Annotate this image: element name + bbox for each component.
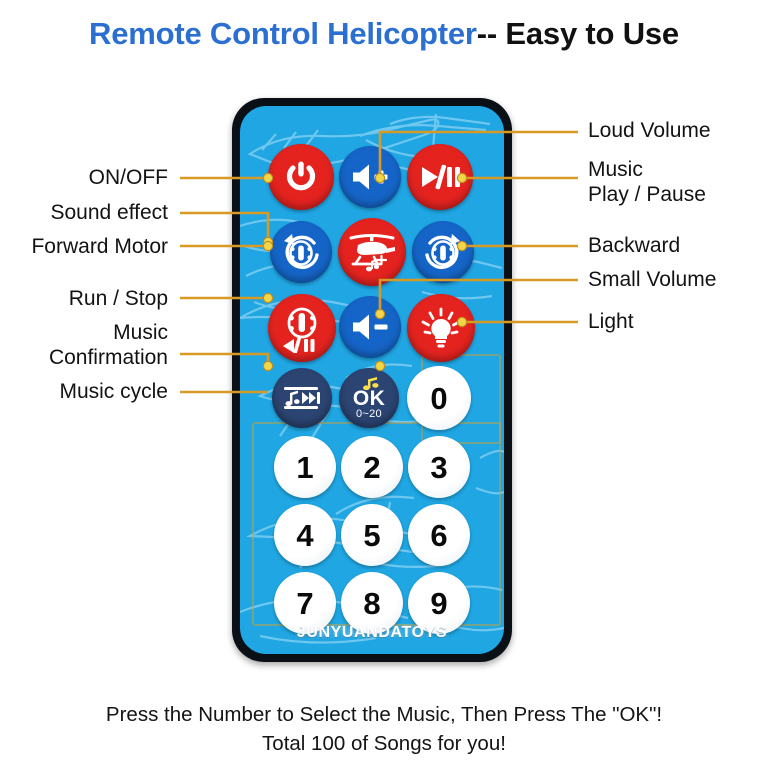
key-5-button[interactable]: 5 [341,504,403,566]
callout-run-stop: Run / Stop [69,286,168,311]
key-9-label: 9 [430,588,447,619]
power-icon [283,159,319,195]
callout-light-line1: Light [588,310,634,333]
key-1-label: 1 [296,452,313,483]
key-3-label: 3 [430,452,447,483]
callout-music-confirmation-line2: Confirmation [49,345,168,370]
remote-control-device: OK 0~20 0 1 2 3 4 5 6 7 8 [232,98,512,662]
key-1-button[interactable]: 1 [274,436,336,498]
key-4-button[interactable]: 4 [274,504,336,566]
callout-music-play-pause: Music Play / Pause [588,157,706,207]
callout-forward-motor-line1: Forward Motor [31,235,168,258]
callout-forward-motor: Forward Motor [31,234,168,259]
callout-on-off-line1: ON/OFF [89,166,168,189]
forward-motor-button[interactable] [270,221,332,283]
music-cycle-button[interactable] [272,368,332,428]
ok-button-label: OK [353,389,385,408]
callout-loud-volume: Loud Volume [588,118,711,143]
key-3-button[interactable]: 3 [408,436,470,498]
key-0-label: 0 [430,383,447,414]
footer-caption: Press the Number to Select the Music, Th… [0,700,768,758]
bulb-icon [419,306,463,350]
callout-on-off: ON/OFF [89,165,168,190]
callout-music-play-pause-line2: Play / Pause [588,182,706,207]
brand-label: JUNYUANDATOYS [240,624,504,642]
speaker-plus-icon [350,161,390,193]
callout-loud-volume-line1: Loud Volume [588,119,711,142]
run-stop-button[interactable] [268,294,336,362]
key-4-label: 4 [296,520,313,551]
ok-button-range-label: 0~20 [356,408,382,420]
key-0-button[interactable]: 0 [407,366,471,430]
ok-button[interactable]: OK 0~20 [339,368,399,428]
callout-small-volume-line1: Small Volume [588,268,716,291]
key-7-label: 7 [296,588,313,619]
volume-up-button[interactable] [339,146,401,208]
footer-caption-line2: Total 100 of Songs for you! [0,729,768,758]
key-2-button[interactable]: 2 [341,436,403,498]
callout-sound-effect-line1: Sound effect [50,201,168,224]
page-title-suffix: -- Easy to Use [477,16,679,51]
callout-music-play-pause-line1: Music [588,157,706,182]
callout-music-cycle: Music cycle [59,379,168,404]
callout-run-stop-line1: Run / Stop [69,287,168,310]
page-root: Remote Control Helicopter-- Easy to Use [0,0,768,768]
volume-down-button[interactable] [339,296,401,358]
key-6-button[interactable]: 6 [408,504,470,566]
callout-small-volume: Small Volume [588,267,716,292]
callout-backward: Backward [588,233,680,258]
callout-music-confirmation-line1: Music [49,320,168,345]
music-cycle-icon [280,381,324,415]
sound-effect-button[interactable] [338,218,406,286]
backward-button[interactable] [412,221,474,283]
key-2-label: 2 [363,452,380,483]
music-play-pause-button[interactable] [407,144,473,210]
remote-faceplate: OK 0~20 0 1 2 3 4 5 6 7 8 [240,106,504,654]
key-6-label: 6 [430,520,447,551]
footer-caption-line1: Press the Number to Select the Music, Th… [0,700,768,729]
play-pause-icon [417,163,463,191]
callout-sound-effect: Sound effect [50,200,168,225]
page-title-main: Remote Control Helicopter [89,16,477,51]
callout-backward-line1: Backward [588,234,680,257]
page-title: Remote Control Helicopter-- Easy to Use [0,16,768,52]
rotor-playpause-icon [277,303,327,353]
power-button[interactable] [268,144,334,210]
rotor-left-icon [278,229,324,275]
rotor-right-icon [420,229,466,275]
key-8-label: 8 [363,588,380,619]
key-5-label: 5 [363,520,380,551]
callout-light: Light [588,309,634,334]
callout-music-confirmation: Music Confirmation [49,320,168,370]
light-button[interactable] [407,294,475,362]
speaker-minus-icon [350,311,390,343]
callout-music-cycle-line1: Music cycle [59,380,168,403]
helicopter-music-icon [347,228,397,276]
